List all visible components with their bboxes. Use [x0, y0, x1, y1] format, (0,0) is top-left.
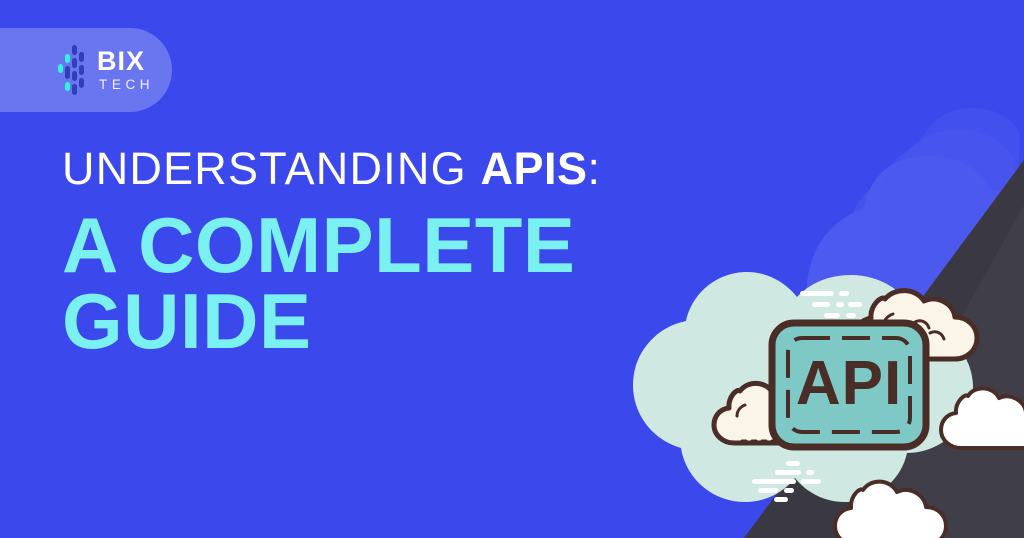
kicker-light-text: UNDERSTANDING — [62, 143, 467, 194]
logo-badge[interactable]: BIX TECH — [0, 28, 172, 112]
dot-matrix-icon — [58, 42, 88, 98]
logo-name: BIX — [97, 48, 154, 75]
page-title: A COMPLETE GUIDE — [62, 207, 702, 360]
logo-subtitle: TECH — [97, 78, 154, 92]
api-card-icon: API — [772, 323, 926, 447]
api-card-label: API — [796, 349, 902, 418]
kicker-colon: : — [588, 143, 602, 194]
headline-block: UNDERSTANDING APIS: A COMPLETE GUIDE — [62, 146, 702, 360]
banner-root: API B — [0, 0, 1024, 538]
logo-wordmark: BIX TECH — [97, 48, 154, 92]
title-line-1: A COMPLETE — [62, 207, 702, 283]
kicker-bold-text: APIS — [480, 143, 587, 194]
headline-kicker: UNDERSTANDING APIS: — [62, 146, 702, 193]
title-line-2: GUIDE — [62, 283, 702, 359]
